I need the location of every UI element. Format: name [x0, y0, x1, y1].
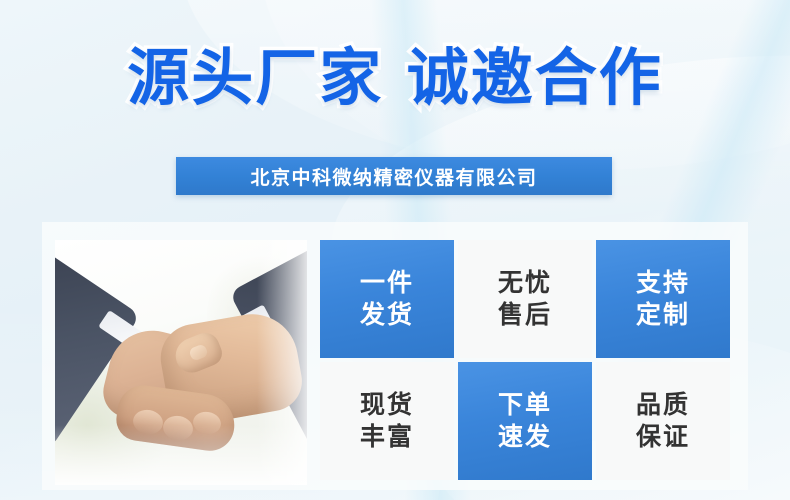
feature-line-2: 定制	[636, 299, 690, 331]
feature-line-1: 现货	[360, 389, 414, 421]
feature-line-1: 品质	[636, 389, 690, 421]
feature-cell-fast-dispatch[interactable]: 下单 速发	[458, 362, 592, 480]
feature-cell-one-piece-shipping[interactable]: 一件 发货	[320, 240, 454, 358]
feature-cell-worry-free-service[interactable]: 无忧 售后	[458, 240, 592, 358]
feature-line-2: 丰富	[360, 421, 414, 453]
feature-line-1: 无忧	[498, 267, 552, 299]
company-name-bar: 北京中科微纳精密仪器有限公司	[176, 157, 612, 195]
company-name-label: 北京中科微纳精密仪器有限公司	[250, 163, 537, 190]
handshake-photo	[55, 240, 307, 485]
feature-cell-quality-guarantee[interactable]: 品质 保证	[596, 362, 730, 480]
feature-grid: 一件 发货 无忧 售后 支持 定制 现货 丰富 下单 速发 品质 保证	[320, 240, 730, 480]
feature-line-2: 保证	[636, 421, 690, 453]
feature-line-2: 速发	[498, 421, 552, 453]
feature-cell-customization-support[interactable]: 支持 定制	[596, 240, 730, 358]
feature-line-2: 发货	[360, 299, 414, 331]
feature-line-1: 一件	[360, 267, 414, 299]
feature-line-1: 支持	[636, 267, 690, 299]
feature-line-2: 售后	[498, 299, 552, 331]
feature-line-1: 下单	[498, 389, 552, 421]
promotional-banner: 源头厂家 诚邀合作 北京中科微纳精密仪器有限公司 一件 发货 无忧 售	[0, 0, 790, 500]
feature-cell-ample-stock[interactable]: 现货 丰富	[320, 362, 454, 480]
headline-text: 源头厂家 诚邀合作	[0, 42, 790, 114]
photo-fade-right	[257, 240, 307, 485]
